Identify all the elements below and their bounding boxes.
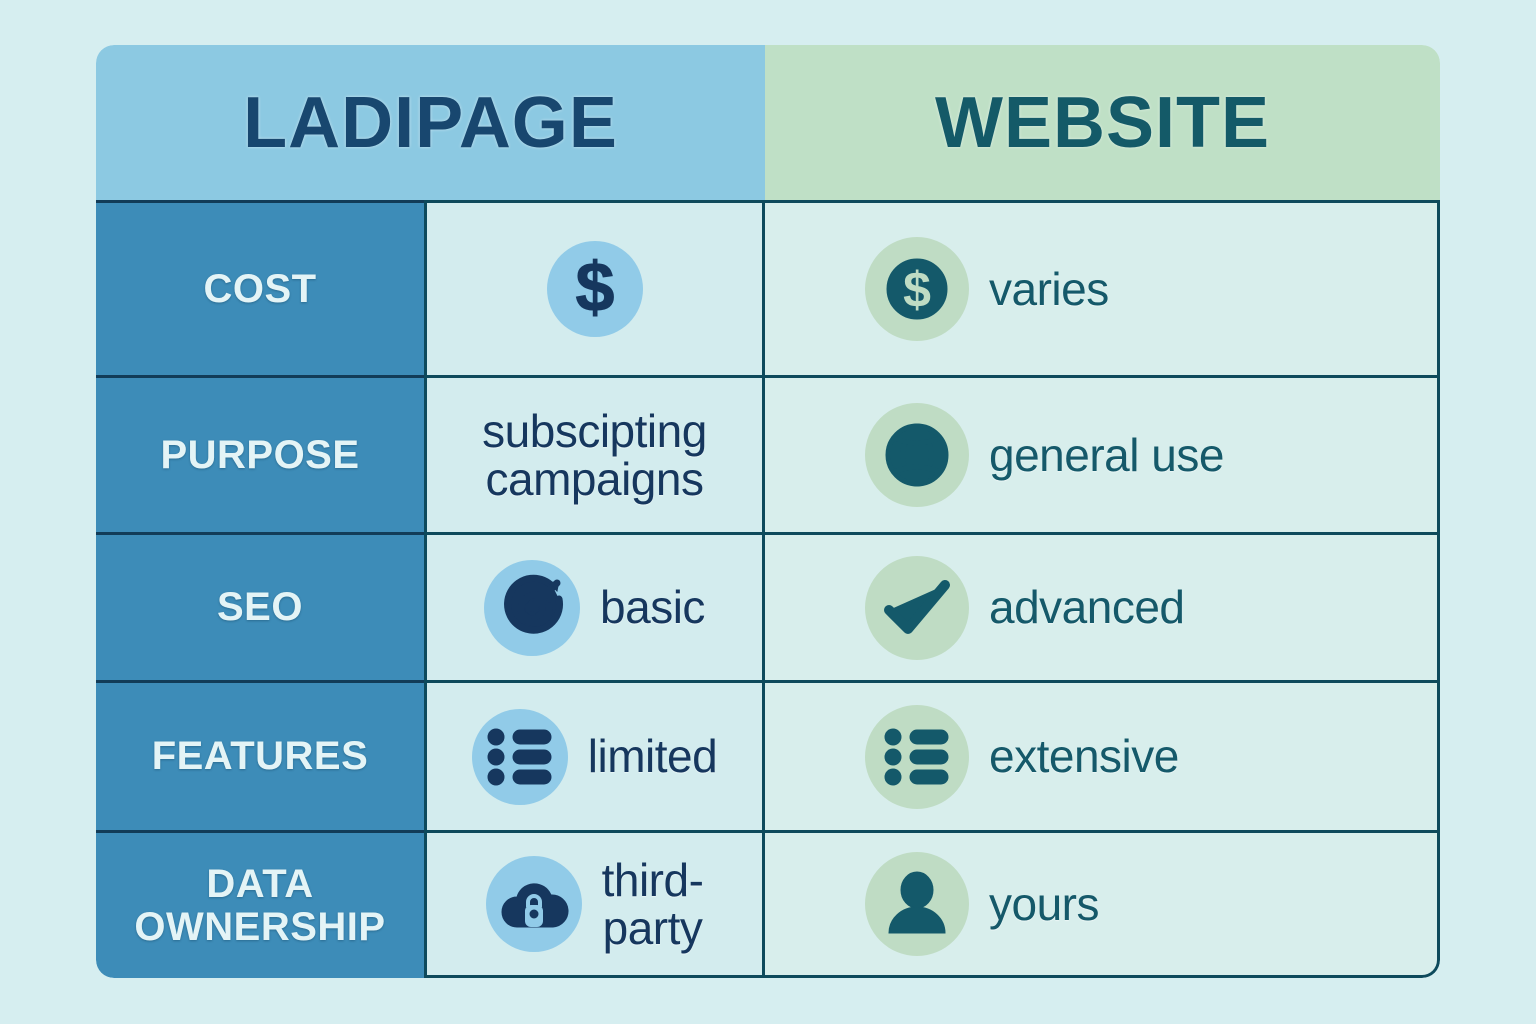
list-icon — [472, 709, 568, 805]
target-icon — [484, 560, 580, 656]
dollar-coin-icon: $ — [865, 237, 969, 341]
infographic-canvas: LADIPAGE WEBSITE COST $ — [0, 0, 1536, 1024]
row-label-text: PURPOSE — [160, 434, 359, 476]
cell-ladipage-purpose: subscipting campaigns — [424, 375, 765, 532]
row-label-text: FEATURES — [152, 735, 369, 777]
cell-ladipage-purpose-text: subscipting campaigns — [482, 407, 707, 504]
cloud-lock-icon — [486, 856, 582, 952]
cell-ladipage-seo: basic — [424, 532, 765, 680]
cell-ladipage-data-ownership-text: third- party — [602, 856, 704, 953]
cell-website-data-ownership-text: yours — [989, 880, 1099, 928]
row-label-cost: COST — [96, 200, 424, 375]
row-label-text: COST — [203, 268, 316, 310]
cell-website-seo: advanced — [765, 532, 1440, 680]
row-label-text: SEO — [217, 586, 303, 628]
row-label-seo: SEO — [96, 532, 424, 680]
row-label-data-ownership: DATA OWNERSHIP — [96, 830, 424, 978]
row-label-text: DATA OWNERSHIP — [106, 863, 414, 948]
svg-text:$: $ — [903, 262, 931, 318]
check-icon — [865, 556, 969, 660]
header-website-label: WEBSITE — [935, 87, 1270, 159]
cell-ladipage-features-text: limited — [588, 732, 717, 780]
cell-website-cost-text: varies — [989, 265, 1109, 313]
cell-website-data-ownership: yours — [765, 830, 1440, 978]
header-website: WEBSITE — [765, 45, 1440, 200]
cell-website-seo-text: advanced — [989, 583, 1185, 631]
comparison-table: LADIPAGE WEBSITE COST $ — [96, 45, 1440, 978]
cell-website-purpose: general use — [765, 375, 1440, 532]
row-label-features: FEATURES — [96, 680, 424, 830]
cell-ladipage-features: limited — [424, 680, 765, 830]
cell-website-purpose-text: general use — [989, 431, 1224, 479]
svg-text:$: $ — [575, 253, 614, 325]
cell-website-cost: $ varies — [765, 200, 1440, 375]
cell-ladipage-cost: $ — [424, 200, 765, 375]
cell-website-features-text: extensive — [989, 732, 1179, 780]
cell-ladipage-data-ownership: third- party — [424, 830, 765, 978]
cell-website-features: extensive — [765, 680, 1440, 830]
header-ladipage-label: LADIPAGE — [243, 87, 618, 159]
header-ladipage: LADIPAGE — [96, 45, 765, 200]
row-label-purpose: PURPOSE — [96, 375, 424, 532]
cell-ladipage-seo-text: basic — [600, 583, 705, 631]
dollar-sign-icon: $ — [547, 241, 643, 337]
globe-icon — [865, 403, 969, 507]
user-icon — [865, 852, 969, 956]
list-icon — [865, 705, 969, 809]
